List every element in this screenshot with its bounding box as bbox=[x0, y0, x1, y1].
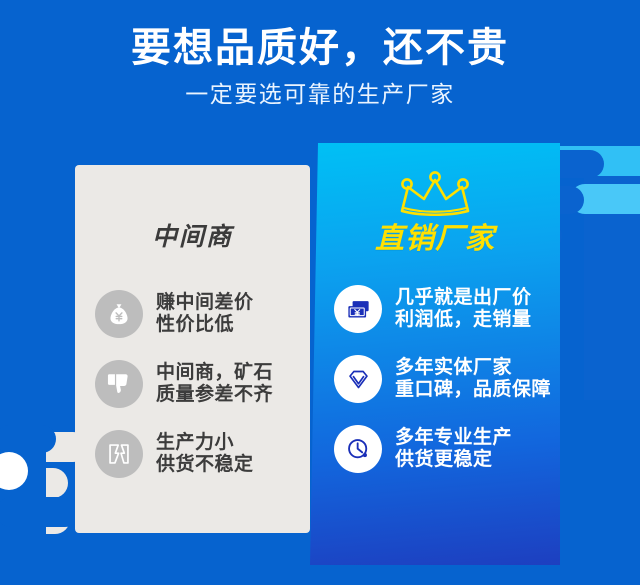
middleman-card: 中间商 赚中间差价 性价比低 中间商， bbox=[75, 165, 310, 533]
factory-item-2: 多年实体厂家 重口碑，品质保障 bbox=[334, 355, 551, 403]
factory-item-1-text: 几乎就是出厂价 利润低，走销量 bbox=[395, 287, 532, 332]
factory-item-1-line1: 几乎就是出厂价 bbox=[395, 287, 532, 309]
money-bag-icon bbox=[95, 290, 143, 338]
decor-left-notch-2 bbox=[0, 497, 80, 527]
factory-item-2-text: 多年实体厂家 重口碑，品质保障 bbox=[395, 357, 551, 402]
factory-item-3: 多年专业生产 供货更稳定 bbox=[334, 425, 512, 473]
factory-card: 直销厂家 几乎就是出厂价 利润低，走销量 bbox=[310, 143, 560, 565]
middleman-item-3-line2: 供货不稳定 bbox=[156, 454, 254, 476]
factory-item-1-line2: 利润低，走销量 bbox=[395, 309, 532, 331]
factory-item-2-line1: 多年实体厂家 bbox=[395, 357, 551, 379]
middleman-item-3: 生产力小 供货不稳定 bbox=[95, 430, 254, 478]
decor-left-notch-1 bbox=[0, 425, 56, 453]
middleman-item-2-line1: 中间商，矿石 bbox=[156, 362, 273, 384]
middleman-item-1-line2: 性价比低 bbox=[156, 314, 254, 336]
middleman-item-2-line2: 质量参差不齐 bbox=[156, 384, 273, 406]
middleman-item-2: 中间商，矿石 质量参差不齐 bbox=[95, 360, 273, 408]
middleman-item-1: 赚中间差价 性价比低 bbox=[95, 290, 254, 338]
middleman-item-3-text: 生产力小 供货不稳定 bbox=[156, 432, 254, 477]
factory-card-title: 直销厂家 bbox=[310, 215, 560, 257]
factory-item-1: 几乎就是出厂价 利润低，走销量 bbox=[334, 285, 532, 333]
middleman-card-title: 中间商 bbox=[75, 217, 310, 253]
middleman-item-1-line1: 赚中间差价 bbox=[156, 292, 254, 314]
page-subtitle: 一定要选可靠的生产厂家 bbox=[0, 71, 640, 109]
diamond-icon bbox=[334, 355, 382, 403]
poster-canvas: 要想品质好，还不贵 一定要选可靠的生产厂家 中间商 赚中间差价 性价比低 bbox=[0, 0, 640, 585]
page-title: 要想品质好，还不贵 bbox=[0, 0, 640, 71]
middleman-item-3-line1: 生产力小 bbox=[156, 432, 254, 454]
header: 要想品质好，还不贵 一定要选可靠的生产厂家 bbox=[0, 0, 640, 108]
broken-block-icon bbox=[95, 430, 143, 478]
middleman-item-1-text: 赚中间差价 性价比低 bbox=[156, 292, 254, 337]
factory-item-2-line2: 重口碑，品质保障 bbox=[395, 379, 551, 401]
factory-item-3-line1: 多年专业生产 bbox=[395, 427, 512, 449]
thumbs-down-icon bbox=[95, 360, 143, 408]
middleman-item-2-text: 中间商，矿石 质量参差不齐 bbox=[156, 362, 273, 407]
factory-item-3-line2: 供货更稳定 bbox=[395, 449, 512, 471]
clock-icon bbox=[334, 425, 382, 473]
banknote-yen-icon bbox=[334, 285, 382, 333]
factory-item-3-text: 多年专业生产 供货更稳定 bbox=[395, 427, 512, 472]
